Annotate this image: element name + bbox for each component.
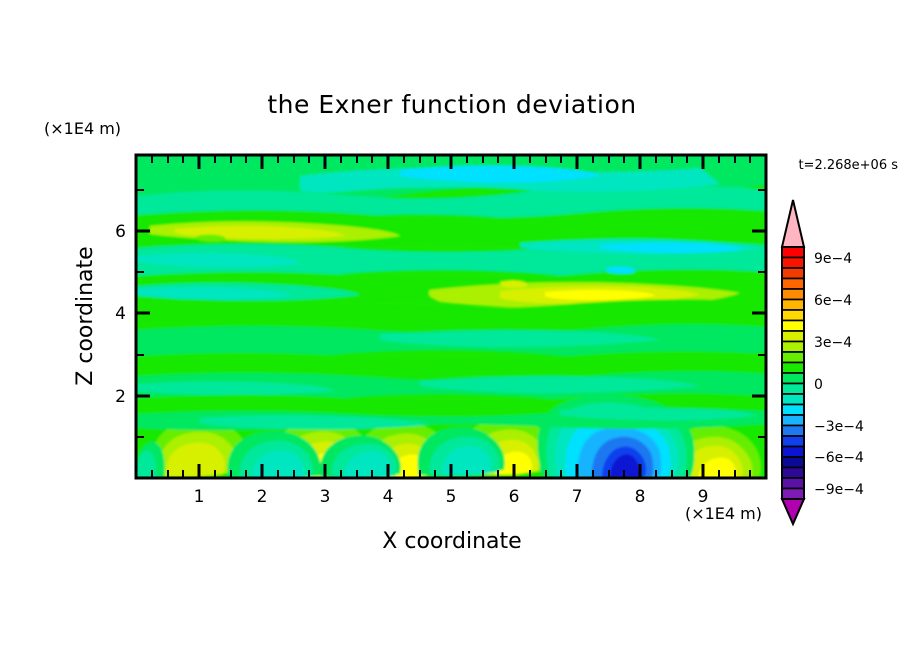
figure-title: the Exner function deviation	[267, 90, 636, 119]
x-tick-label: 6	[509, 487, 520, 507]
colorbar-label: 0	[814, 377, 823, 393]
y-tick-label: 6	[115, 222, 126, 242]
colorbar-label: −6e−4	[814, 450, 864, 466]
x-axis-unit-label: (×1E4 m)	[685, 504, 762, 523]
colorbar-label: 9e−4	[814, 251, 852, 267]
colorbar-label: −9e−4	[814, 482, 864, 498]
contour-field	[136, 155, 766, 479]
y-axis-title: Z coordinate	[73, 246, 98, 385]
x-tick-label: 5	[446, 487, 457, 507]
contour-figure: the Exner function deviation (×1E4 m)	[0, 0, 904, 654]
colorbar-bands	[782, 247, 804, 499]
y-axis-unit-label: (×1E4 m)	[44, 119, 121, 138]
timestamp-label: t=2.268e+06 s	[798, 158, 898, 173]
x-tick-label: 4	[383, 487, 394, 507]
y-tick-label: 2	[115, 387, 126, 407]
colorbar-label: −3e−4	[814, 419, 864, 435]
x-tick-label: 3	[320, 487, 331, 507]
x-tick-label: 2	[257, 487, 268, 507]
x-axis-title: X coordinate	[382, 529, 521, 554]
x-tick-label: 8	[635, 487, 646, 507]
colorbar-label: 6e−4	[814, 293, 852, 309]
x-tick-label: 1	[194, 487, 205, 507]
figure-canvas: the Exner function deviation (×1E4 m)	[0, 0, 904, 654]
colorbar-label: 3e−4	[814, 335, 852, 351]
y-tick-label: 4	[115, 304, 126, 324]
x-tick-label: 7	[572, 487, 583, 507]
